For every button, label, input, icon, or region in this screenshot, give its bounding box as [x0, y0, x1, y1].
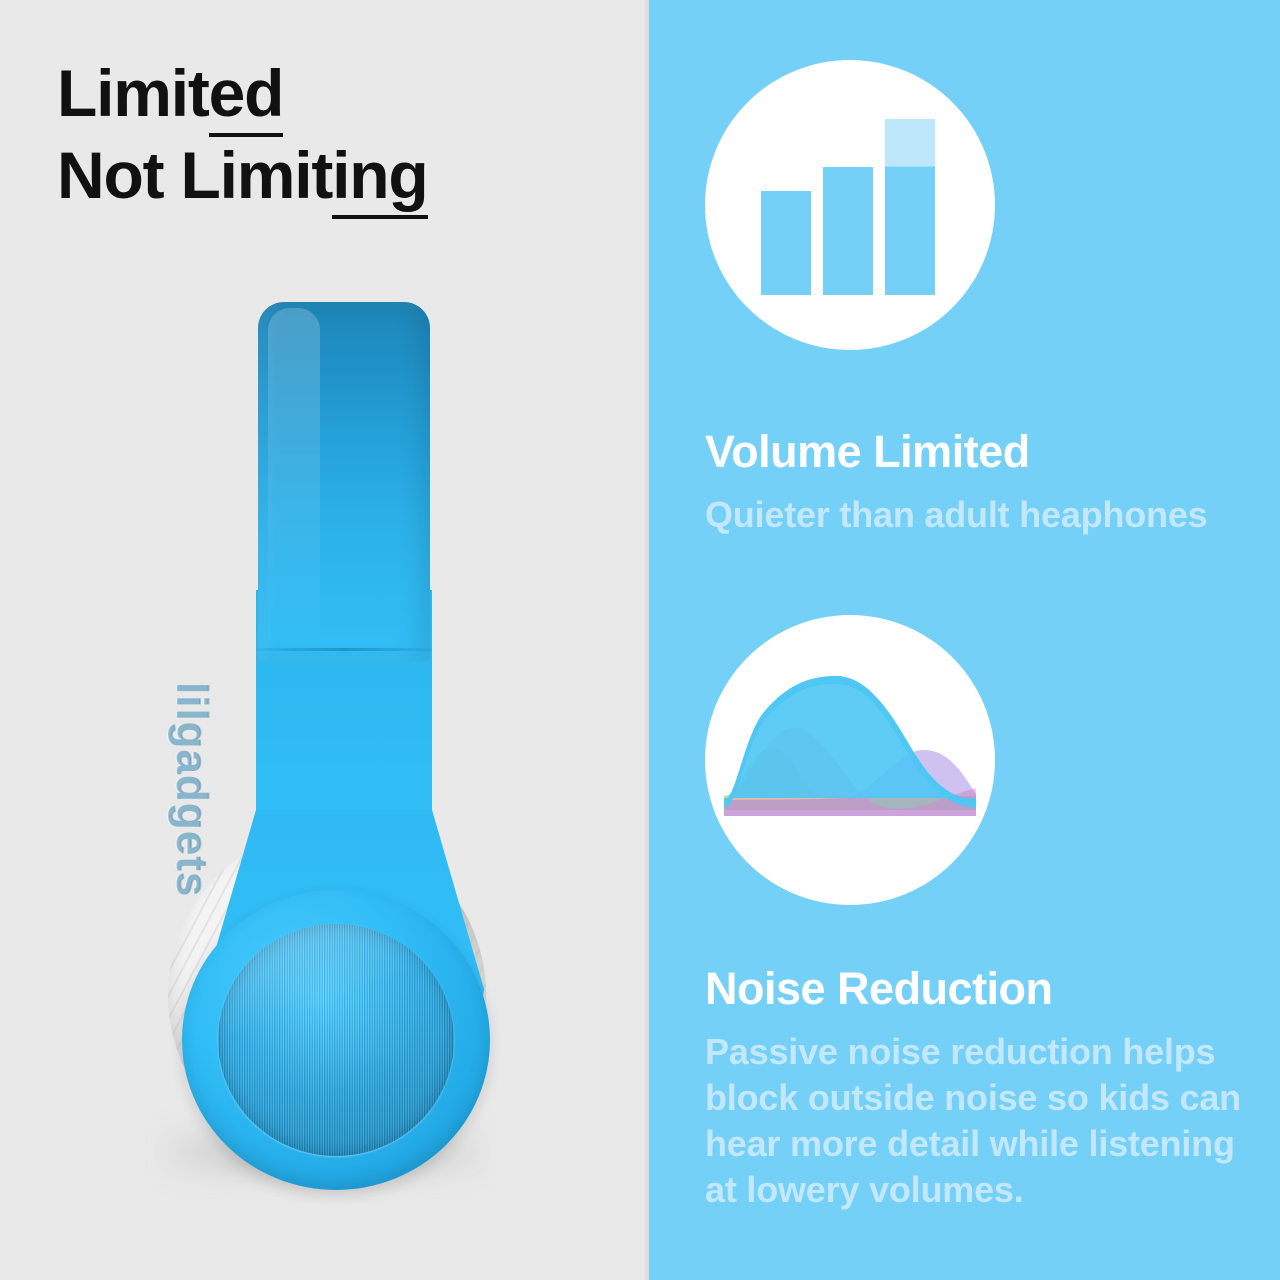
bar-chart-graphic: [761, 115, 939, 295]
headphones-product-image: lilgadgets: [120, 290, 540, 1250]
headline-line-1-plain: Limit: [57, 56, 209, 130]
feature-subtitle-volume-limited: Quieter than adult heaphones: [705, 492, 1265, 538]
left-panel: Limited Not Limiting lilgadgets: [0, 0, 645, 1280]
bar-2: [823, 167, 873, 295]
bar-3-capped: [885, 119, 935, 295]
headline-line-1-underlined: ed: [209, 56, 284, 137]
ear-cup: [182, 890, 490, 1190]
feature-title-volume-limited: Volume Limited: [705, 426, 1030, 478]
headline-line-2-underlined: ing: [332, 138, 427, 219]
bar-1: [761, 191, 811, 295]
sound-wave-icon: [705, 615, 995, 905]
feature-title-noise-reduction: Noise Reduction: [705, 963, 1053, 1015]
sound-wave-graphic: [724, 676, 976, 844]
feature-subtitle-noise-reduction: Passive noise reduction helps block outs…: [705, 1029, 1265, 1213]
page-title: Limited Not Limiting: [57, 52, 617, 216]
product-marketing-image: Limited Not Limiting lilgadgets: [0, 0, 1280, 1280]
headband-upper: [258, 302, 430, 662]
bar-chart-icon: [705, 60, 995, 350]
headline-line-2: Not Limiting: [57, 134, 617, 216]
headline-line-2-plain: Not Limit: [57, 138, 332, 212]
ear-cup-metal-disc: [218, 924, 454, 1156]
headband-seam: [256, 648, 432, 651]
headline-line-1: Limited: [57, 52, 617, 134]
right-panel: Volume Limited Quieter than adult heapho…: [649, 0, 1280, 1280]
